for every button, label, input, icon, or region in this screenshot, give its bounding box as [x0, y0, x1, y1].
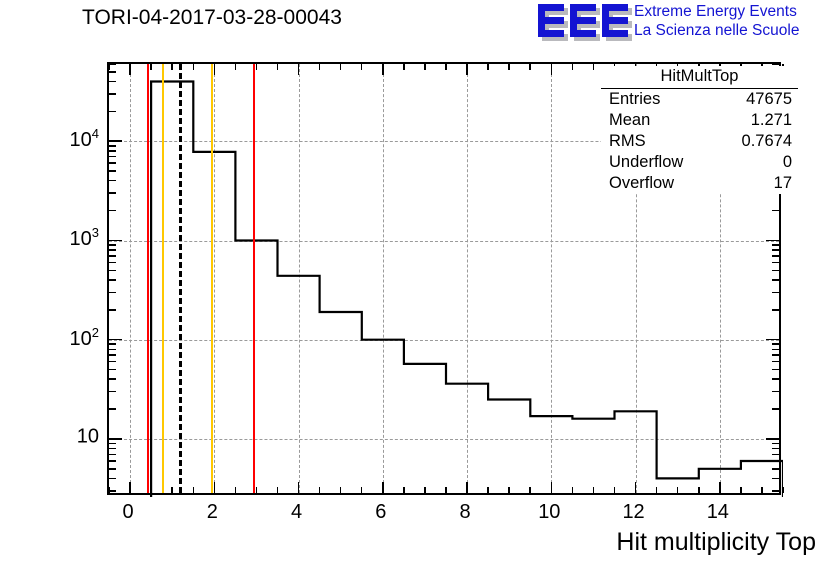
chart-canvas: TORI-04-2017-03-28-00043 Extreme Energy …	[0, 0, 836, 572]
page-title: TORI-04-2017-03-28-00043	[82, 6, 342, 30]
y-tick	[109, 255, 116, 257]
y-tick	[109, 81, 116, 83]
stats-key: Mean	[609, 111, 650, 130]
y-tick	[109, 361, 116, 363]
stats-value: 0.7674	[742, 132, 792, 151]
y-tick	[109, 93, 116, 95]
y-tick-right	[772, 460, 779, 462]
x-tick	[698, 487, 700, 493]
x-tick	[614, 487, 616, 493]
logo-letter-e-2	[570, 4, 596, 37]
x-tick-top	[403, 64, 405, 70]
y-tick-right	[766, 438, 779, 440]
x-tick-label: 2	[207, 501, 218, 524]
x-tick-label: 10	[538, 501, 560, 524]
y-tick-right	[772, 361, 779, 363]
marker-red-low-threshold	[147, 64, 149, 493]
x-tick	[761, 487, 763, 493]
stats-row: Overflow17	[601, 173, 798, 194]
y-tick	[109, 468, 116, 470]
stats-key: RMS	[609, 132, 646, 151]
x-tick-top	[235, 64, 237, 70]
x-tick-top	[382, 64, 384, 75]
x-tick-top	[108, 64, 110, 70]
x-tick	[235, 487, 237, 493]
y-tick	[109, 170, 116, 172]
stats-value: 17	[774, 174, 792, 193]
y-tick	[109, 249, 116, 251]
x-tick	[214, 482, 216, 493]
x-tick-label: 0	[123, 501, 134, 524]
y-tick-right	[772, 262, 779, 264]
y-tick-right	[772, 279, 779, 281]
y-tick-right	[766, 339, 779, 341]
x-tick	[508, 487, 510, 493]
x-tick-top	[572, 64, 574, 70]
marker-orange-high-threshold	[211, 64, 213, 493]
y-tick-right	[772, 369, 779, 371]
stats-rows: Entries47675Mean1.271RMS0.7674Underflow0…	[601, 89, 798, 194]
y-tick	[109, 339, 122, 341]
x-tick	[677, 487, 679, 493]
x-tick	[424, 487, 426, 493]
y-tick-right	[772, 292, 779, 294]
x-tick-top	[319, 64, 321, 70]
x-tick	[193, 487, 195, 493]
x-tick	[150, 487, 152, 493]
y-tick-right	[772, 378, 779, 380]
stats-key: Underflow	[609, 153, 683, 172]
y-tick	[109, 262, 116, 264]
y-tick-right	[772, 249, 779, 251]
y-tick	[109, 180, 116, 182]
y-tick-right	[772, 490, 779, 492]
x-tick	[361, 487, 363, 493]
stats-value: 47675	[746, 90, 792, 109]
y-tick	[109, 279, 116, 281]
x-tick	[719, 482, 721, 493]
y-tick-right	[772, 255, 779, 257]
x-tick	[277, 487, 279, 493]
x-tick-top	[466, 64, 468, 75]
x-tick	[466, 482, 468, 493]
x-axis-title: Hit multiplicity Top	[616, 528, 816, 557]
y-tick	[109, 460, 116, 462]
y-tick	[109, 111, 116, 113]
y-tick-right	[772, 349, 779, 351]
x-tick-top	[424, 64, 426, 70]
logo-letter-e-3	[602, 4, 628, 37]
stats-key: Entries	[609, 90, 660, 109]
marker-orange-low-threshold	[162, 64, 164, 493]
x-tick	[487, 487, 489, 493]
x-tick-top	[508, 64, 510, 70]
x-tick	[340, 487, 342, 493]
x-tick	[171, 487, 173, 493]
y-tick	[109, 448, 116, 450]
y-tick-right	[772, 454, 779, 456]
x-tick-top	[193, 64, 195, 70]
y-tick-right	[772, 468, 779, 470]
y-tick	[109, 354, 116, 356]
y-tick	[109, 156, 116, 158]
x-tick-top	[214, 64, 216, 75]
y-tick-right	[772, 244, 779, 246]
y-tick	[109, 343, 116, 345]
y-tick-label: 104	[70, 126, 99, 152]
y-tick-right	[772, 63, 779, 65]
logo-letter-e-1	[538, 4, 564, 37]
x-tick-top	[171, 64, 173, 70]
y-tick	[109, 140, 122, 142]
y-tick	[109, 454, 116, 456]
y-tick	[109, 369, 116, 371]
y-tick	[109, 478, 116, 480]
y-tick	[109, 408, 116, 410]
x-tick-top	[593, 64, 595, 70]
eee-logo-mark	[538, 4, 630, 38]
x-tick-label: 14	[707, 501, 729, 524]
x-tick-top	[361, 64, 363, 70]
y-tick	[109, 150, 116, 152]
y-tick-right	[772, 210, 779, 212]
x-tick	[572, 487, 574, 493]
y-tick	[109, 292, 116, 294]
y-tick	[109, 210, 116, 212]
y-tick	[109, 391, 116, 393]
y-tick-label: 103	[70, 226, 99, 252]
stats-key: Overflow	[609, 174, 674, 193]
x-tick	[298, 482, 300, 493]
x-tick	[382, 482, 384, 493]
x-tick-label: 12	[622, 501, 644, 524]
logo-line-2: La Scienza nelle Scuole	[634, 21, 799, 40]
x-tick	[593, 487, 595, 493]
logo-line-1: Extreme Energy Events	[634, 2, 799, 21]
y-tick	[109, 63, 116, 65]
y-tick-right	[772, 443, 779, 445]
y-tick	[109, 145, 116, 147]
y-tick-right	[772, 354, 779, 356]
x-tick-label: 4	[291, 501, 302, 524]
x-tick	[256, 487, 258, 493]
y-tick	[109, 378, 116, 380]
y-tick	[109, 490, 116, 492]
x-tick-top	[340, 64, 342, 70]
y-tick	[109, 309, 116, 311]
y-tick-right	[772, 478, 779, 480]
y-tick-right	[772, 270, 779, 272]
y-tick	[109, 71, 116, 73]
x-tick	[782, 487, 784, 493]
y-tick	[109, 349, 116, 351]
y-tick	[109, 270, 116, 272]
y-tick-right	[772, 343, 779, 345]
x-tick-top	[298, 64, 300, 75]
stats-title: HitMultTop	[601, 66, 798, 89]
x-tick-top	[487, 64, 489, 70]
y-tick-label: 10	[77, 425, 99, 448]
x-tick-label: 8	[460, 501, 471, 524]
y-tick	[109, 240, 122, 242]
eee-logo-text: Extreme Energy Events La Scienza nelle S…	[634, 2, 799, 40]
x-tick-label: 6	[375, 501, 386, 524]
y-tick-right	[772, 448, 779, 450]
x-tick-top	[529, 64, 531, 70]
y-tick-right	[766, 240, 779, 242]
stats-row: Mean1.271	[601, 110, 798, 131]
x-tick-top	[150, 64, 152, 70]
y-tick	[109, 162, 116, 164]
x-tick	[740, 487, 742, 493]
stats-box: HitMultTop Entries47675Mean1.271RMS0.767…	[601, 66, 798, 194]
eee-logo: Extreme Energy Events La Scienza nelle S…	[538, 2, 834, 44]
y-tick	[109, 244, 116, 246]
x-tick-top	[445, 64, 447, 70]
x-tick-top	[129, 64, 131, 75]
x-tick-top	[256, 64, 258, 70]
y-tick-right	[772, 309, 779, 311]
stats-row: Entries47675	[601, 89, 798, 110]
x-tick	[656, 487, 658, 493]
y-tick-label: 102	[70, 325, 99, 351]
stats-row: RMS0.7674	[601, 131, 798, 152]
x-tick	[635, 482, 637, 493]
x-tick	[551, 482, 553, 493]
y-tick	[109, 438, 122, 440]
stats-value: 1.271	[751, 111, 792, 130]
x-tick	[529, 487, 531, 493]
x-tick	[403, 487, 405, 493]
x-tick	[129, 482, 131, 493]
y-tick	[109, 443, 116, 445]
marker-mean-marker	[179, 64, 182, 493]
x-tick-top	[551, 64, 553, 75]
y-tick-right	[772, 391, 779, 393]
stats-value: 0	[783, 153, 792, 172]
y-tick	[109, 192, 116, 194]
x-tick	[319, 487, 321, 493]
x-tick-top	[277, 64, 279, 70]
marker-red-high-threshold	[253, 64, 255, 493]
stats-row: Underflow0	[601, 152, 798, 173]
y-tick-right	[772, 408, 779, 410]
x-tick	[445, 487, 447, 493]
